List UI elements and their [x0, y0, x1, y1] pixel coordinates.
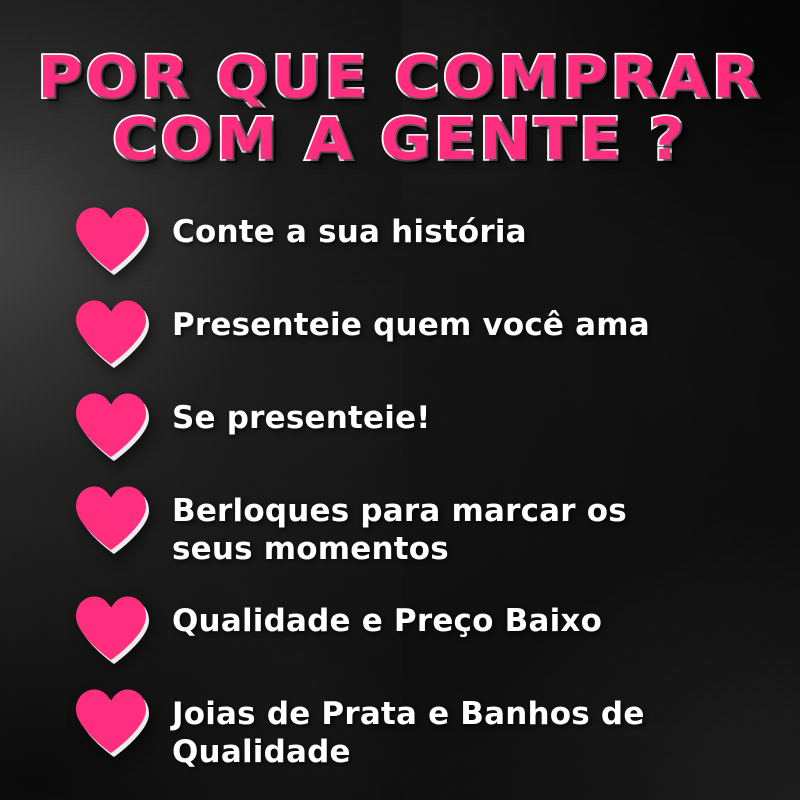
heart-icon — [74, 392, 148, 458]
benefits-list: Conte a sua história Presenteie quem voc… — [74, 204, 774, 796]
list-item: Qualidade e Preço Baixo — [74, 593, 774, 661]
list-item-label: Conte a sua história — [172, 204, 527, 251]
page-title-line-1: POR QUE COMPRAR — [0, 46, 800, 108]
list-item-label: Qualidade e Preço Baixo — [172, 593, 602, 640]
promo-graphic: POR QUE COMPRAR COM A GENTE ? Conte a su… — [0, 0, 800, 800]
list-item: Berloques para marcar os seus momentos — [74, 483, 774, 568]
list-item-label: Berloques para marcar os seus momentos — [172, 483, 712, 568]
heart-icon — [74, 206, 148, 272]
list-item: Presenteie quem você ama — [74, 297, 774, 365]
list-item-label: Presenteie quem você ama — [172, 297, 650, 344]
list-item-label: Se presenteie! — [172, 390, 431, 437]
heart-icon — [74, 595, 148, 661]
list-item-label: Joias de Prata e Banhos de Qualidade — [172, 686, 712, 771]
heart-icon — [74, 299, 148, 365]
page-title: POR QUE COMPRAR COM A GENTE ? — [0, 46, 800, 170]
heart-icon — [74, 485, 148, 551]
heart-icon — [74, 688, 148, 754]
page-title-line-2: COM A GENTE ? — [0, 108, 800, 170]
list-item: Conte a sua história — [74, 204, 774, 272]
list-item: Joias de Prata e Banhos de Qualidade — [74, 686, 774, 771]
list-item: Se presenteie! — [74, 390, 774, 458]
